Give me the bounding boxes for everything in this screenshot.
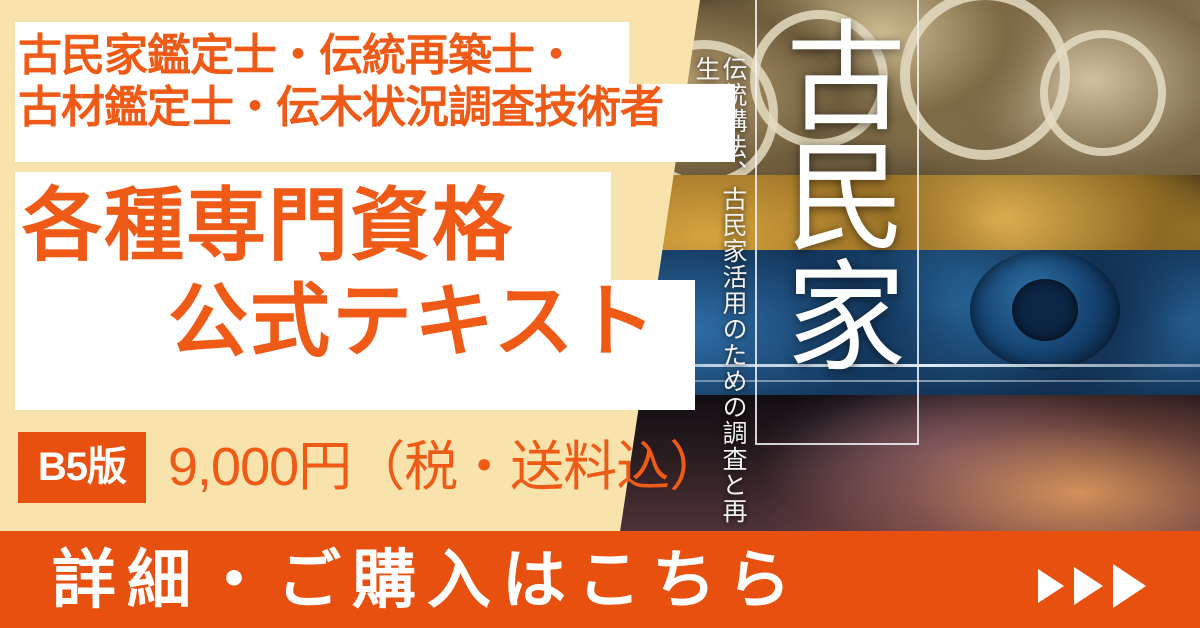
play-triangle-icon bbox=[1113, 564, 1146, 608]
cover-title-text: 古民家 bbox=[772, 14, 902, 374]
main-title-line-2: 公式テキスト bbox=[168, 282, 658, 362]
blue-medallion bbox=[970, 250, 1120, 370]
cta-arrows bbox=[1038, 564, 1146, 608]
price-text: 9,000円（税・送料込） bbox=[168, 437, 722, 497]
headline-line-2: 古材鑑定士・伝木状況調査技術者 bbox=[18, 82, 718, 134]
cta-bar[interactable]: 詳細・ご購入はこちら bbox=[0, 531, 1200, 628]
play-triangle-icon bbox=[1038, 569, 1064, 603]
main-title-line-1: 各種専門資格 bbox=[22, 186, 514, 266]
headline-line-1: 古民家鑑定士・伝統再築士・ bbox=[18, 31, 577, 80]
cta-label: 詳細・ご購入はこちら bbox=[52, 545, 802, 615]
headline: 古民家鑑定士・伝統再築士・ 古材鑑定士・伝木状況調査技術者 bbox=[18, 30, 718, 134]
promo-banner: 古民家 伝統構法、古民家活用のための調査と再生の 古民家鑑定士・伝統再築士・ 古… bbox=[0, 0, 1200, 628]
format-badge: B5版 bbox=[18, 432, 146, 503]
play-triangle-icon bbox=[1074, 567, 1103, 605]
